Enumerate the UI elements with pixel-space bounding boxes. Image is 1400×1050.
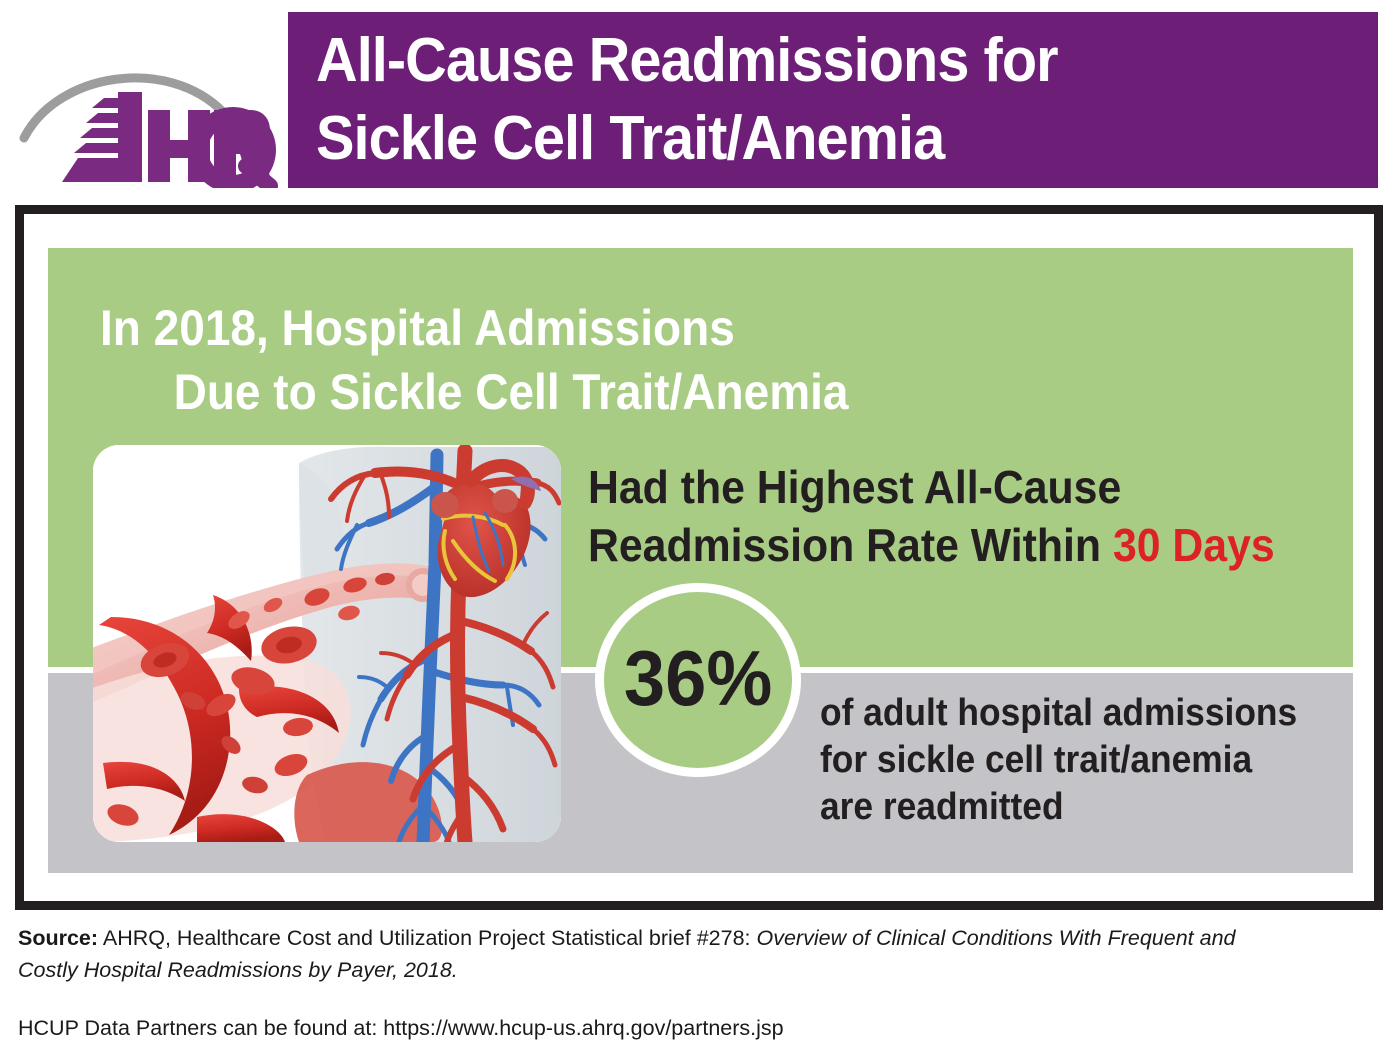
highlight-line-1: Had the Highest All-Cause — [588, 458, 1304, 516]
panel-heading: In 2018, Hospital Admissions Due to Sick… — [100, 296, 1100, 424]
ahrq-logo-mark — [18, 62, 280, 188]
panel-heading-line-1: In 2018, Hospital Admissions — [100, 296, 1020, 360]
ahrq-logo — [18, 62, 280, 188]
page-title-line-1: All-Cause Readmissions for — [316, 22, 1304, 100]
stat-description-line-1: of adult hospital admissions — [820, 690, 1322, 737]
highlight-emphasis-30-days: 30 Days — [1113, 519, 1275, 571]
source-title-line-1: Overview of Clinical Conditions With Fre… — [757, 926, 1236, 950]
sickle-cell-illustration — [93, 445, 561, 842]
stat-circle: 36% — [595, 583, 801, 777]
panel-heading-line-2: Due to Sickle Cell Trait/Anemia — [100, 360, 1020, 424]
source-title-line-2: Costly Hospital Readmissions by Payer, 2… — [18, 958, 458, 982]
illustration-card — [93, 445, 561, 842]
highlight-line-2-prefix: Readmission Rate Within — [588, 519, 1113, 571]
highlight-line-2: Readmission Rate Within 30 Days — [588, 516, 1304, 574]
stat-description-line-2: for sickle cell trait/anemia — [820, 737, 1322, 784]
page-title-line-2: Sickle Cell Trait/Anemia — [316, 100, 1304, 178]
stat-description-line-3: are readmitted — [820, 784, 1322, 831]
highlight-statement: Had the Highest All-Cause Readmission Ra… — [588, 458, 1358, 574]
source-citation: Source: AHRQ, Healthcare Cost and Utiliz… — [18, 922, 1378, 986]
source-text: AHRQ, Healthcare Cost and Utilization Pr… — [98, 926, 756, 950]
stat-value: 36% — [624, 639, 772, 721]
title-bar: All-Cause Readmissions for Sickle Cell T… — [288, 12, 1378, 188]
footer: Source: AHRQ, Healthcare Cost and Utiliz… — [18, 922, 1378, 1044]
page-header: All-Cause Readmissions for Sickle Cell T… — [0, 0, 1400, 196]
source-label: Source: — [18, 926, 98, 950]
hcup-partners-note: HCUP Data Partners can be found at: http… — [18, 1012, 1378, 1044]
stat-description: of adult hospital admissions for sickle … — [820, 690, 1360, 831]
